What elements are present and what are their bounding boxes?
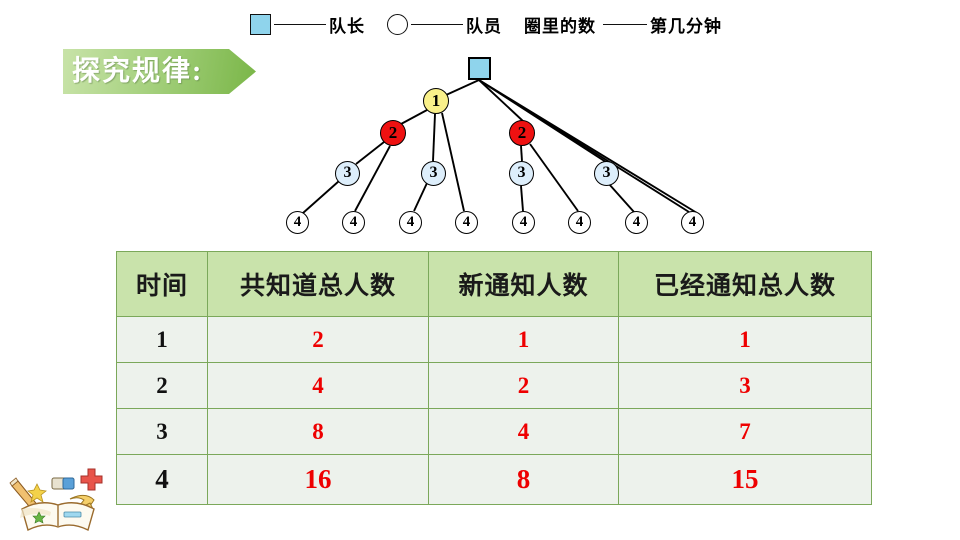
cell-total-known: 16 [208,455,429,505]
cell-total-known: 4 [208,363,429,409]
table-header-newly-told: 新通知人数 [429,252,619,317]
table-header-row: 时间 共知道总人数 新通知人数 已经通知总人数 [117,252,872,317]
tree-node-4c: 4 [399,211,422,234]
table-row: 1 2 1 1 [117,317,872,363]
tree-node-4h: 4 [681,211,704,234]
book-icon [20,503,94,530]
open-book-stationery-icon [8,462,112,536]
tree-node-3c: 3 [509,161,534,186]
cell-time: 1 [117,317,208,363]
cell-total-told: 7 [619,409,872,455]
cell-total-told: 1 [619,317,872,363]
cell-total-told: 3 [619,363,872,409]
cell-total-known: 2 [208,317,429,363]
tree-root-captain-square [468,57,491,80]
cell-total-known: 8 [208,409,429,455]
tree-node-4d: 4 [455,211,478,234]
table-header-total-known: 共知道总人数 [208,252,429,317]
tree-node-3b: 3 [421,161,446,186]
table-row: 4 16 8 15 [117,455,872,505]
eraser-icon [52,478,74,489]
cell-newly-told: 4 [429,409,619,455]
table-header-time: 时间 [117,252,208,317]
spread-tree-diagram: 1 2 2 3 3 3 3 4 4 4 4 4 4 4 4 [0,0,960,250]
tree-node-3a: 3 [335,161,360,186]
cell-newly-told: 1 [429,317,619,363]
cell-time: 2 [117,363,208,409]
tree-node-2a: 2 [380,120,406,146]
tree-node-4a: 4 [286,211,309,234]
tree-node-4g: 4 [625,211,648,234]
tree-edges [0,0,960,250]
results-table: 时间 共知道总人数 新通知人数 已经通知总人数 1 2 1 1 2 4 2 3 … [116,251,872,505]
plus-symbol-icon [81,469,102,490]
table-row: 2 4 2 3 [117,363,872,409]
cell-newly-told: 8 [429,455,619,505]
tree-node-1: 1 [423,88,449,114]
table-header-total-told: 已经通知总人数 [619,252,872,317]
tree-node-4f: 4 [568,211,591,234]
tree-node-2b: 2 [509,120,535,146]
tree-node-3d: 3 [594,161,619,186]
cell-time: 3 [117,409,208,455]
cell-newly-told: 2 [429,363,619,409]
table-row: 3 8 4 7 [117,409,872,455]
cell-total-told: 15 [619,455,872,505]
tree-node-4e: 4 [512,211,535,234]
tree-node-4b: 4 [342,211,365,234]
cell-time: 4 [117,455,208,505]
